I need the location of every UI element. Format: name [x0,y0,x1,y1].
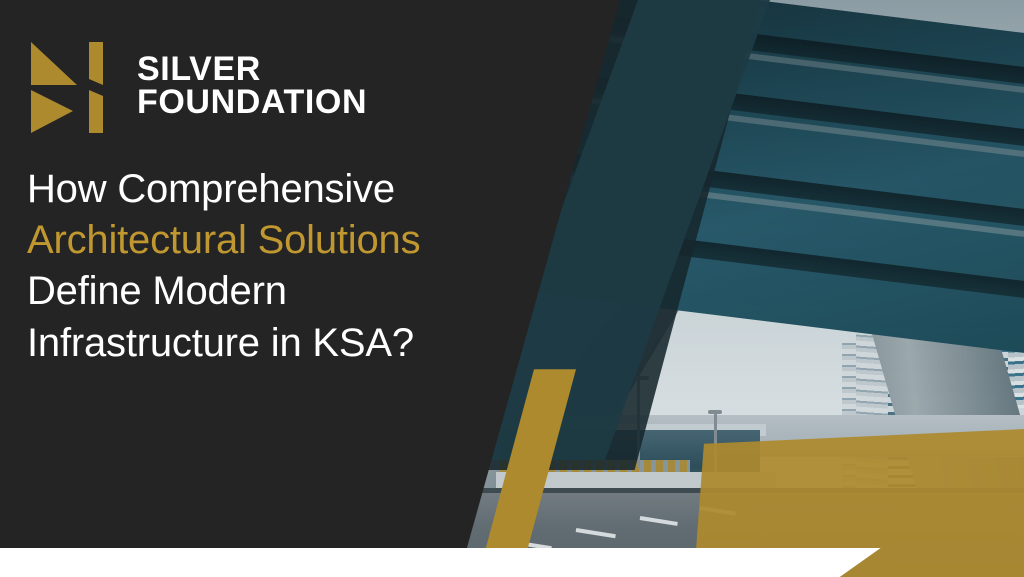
brand-wordmark: SILVER FOUNDATION [137,53,367,120]
page-title: How Comprehensive Architectural Solution… [27,164,497,369]
brand-logo[interactable]: SILVER FOUNDATION [27,36,520,136]
blog-hero-banner: SILVER FOUNDATION How Comprehensive Arch… [0,0,1024,577]
headline-segment-3: Define Modern Infrastructure in KSA? [27,269,414,364]
headline-segment-accent: Architectural Solutions [27,218,420,262]
headline-segment-1: How Comprehensive [27,167,395,211]
brand-name-line-1: SILVER [137,53,367,86]
silver-foundation-logo-mark-icon [27,36,119,136]
brand-name-line-2: FOUNDATION [137,86,367,119]
hero-content: SILVER FOUNDATION How Comprehensive Arch… [0,0,520,577]
